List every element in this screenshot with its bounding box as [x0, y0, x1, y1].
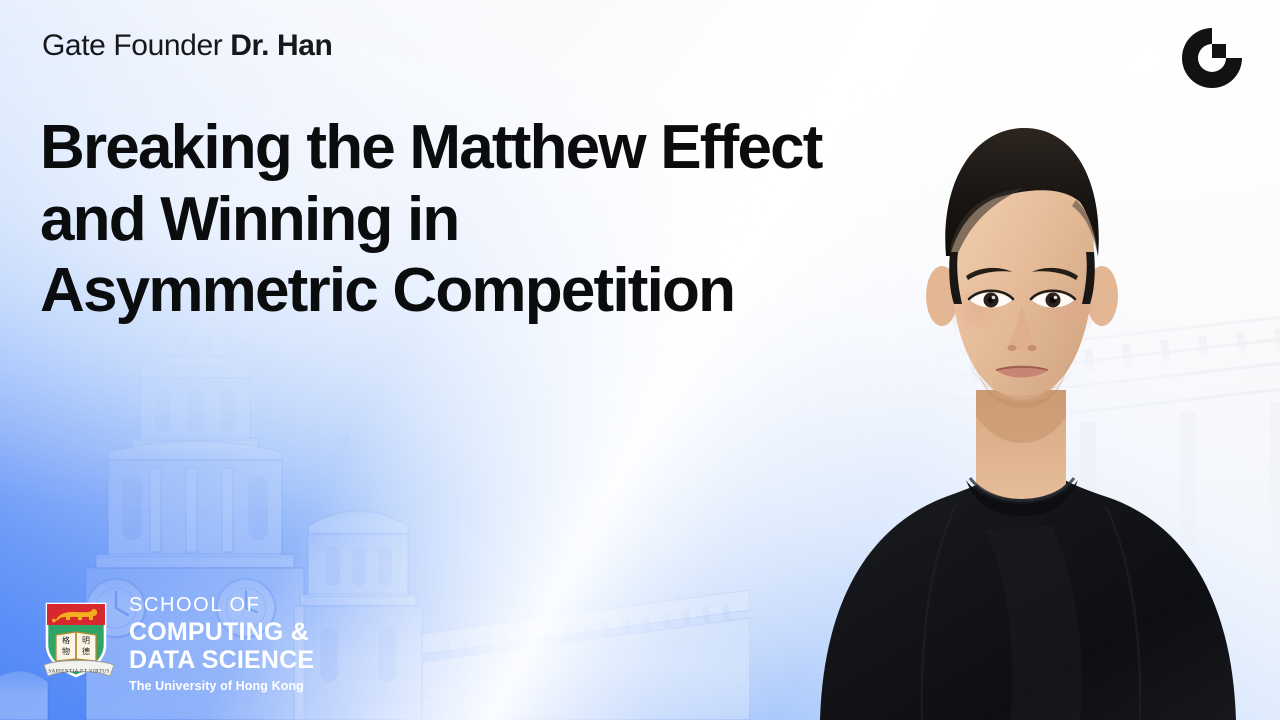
gate-g-logo-icon: [1180, 26, 1244, 90]
hku-school-lockup: 格 物 明 德 SAPIENTIA ET VIRTUS SCHOOL OF CO…: [42, 595, 314, 693]
hku-line-computing: COMPUTING &: [129, 620, 314, 645]
eyebrow-prefix: Gate Founder: [42, 29, 230, 62]
hku-line-data-science: DATA SCIENCE: [129, 648, 314, 673]
headline-line-3: Asymmetric Competition: [40, 255, 920, 327]
hku-lockup-text: SCHOOL OF COMPUTING & DATA SCIENCE The U…: [129, 595, 314, 693]
slide-canvas: Gate Founder Dr. Han Breaking the Matthe…: [0, 0, 1280, 720]
hku-line-school-of: SCHOOL OF: [129, 595, 314, 615]
page-title: Breaking the Matthew Effect and Winning …: [40, 112, 920, 327]
hku-crest-icon: 格 物 明 德 SAPIENTIA ET VIRTUS: [42, 599, 116, 687]
svg-text:格: 格: [62, 635, 70, 645]
speaker-eyebrow: Gate Founder Dr. Han: [42, 29, 332, 63]
headline-line-1: Breaking the Matthew Effect: [40, 112, 920, 184]
crest-motto: SAPIENTIA ET VIRTUS: [48, 669, 109, 675]
headline-line-2: and Winning in: [40, 184, 920, 256]
svg-text:德: 德: [82, 646, 90, 656]
hku-line-university: The University of Hong Kong: [129, 680, 314, 693]
svg-text:明: 明: [82, 636, 90, 645]
eyebrow-speaker-name: Dr. Han: [230, 29, 332, 62]
svg-text:物: 物: [62, 646, 70, 656]
